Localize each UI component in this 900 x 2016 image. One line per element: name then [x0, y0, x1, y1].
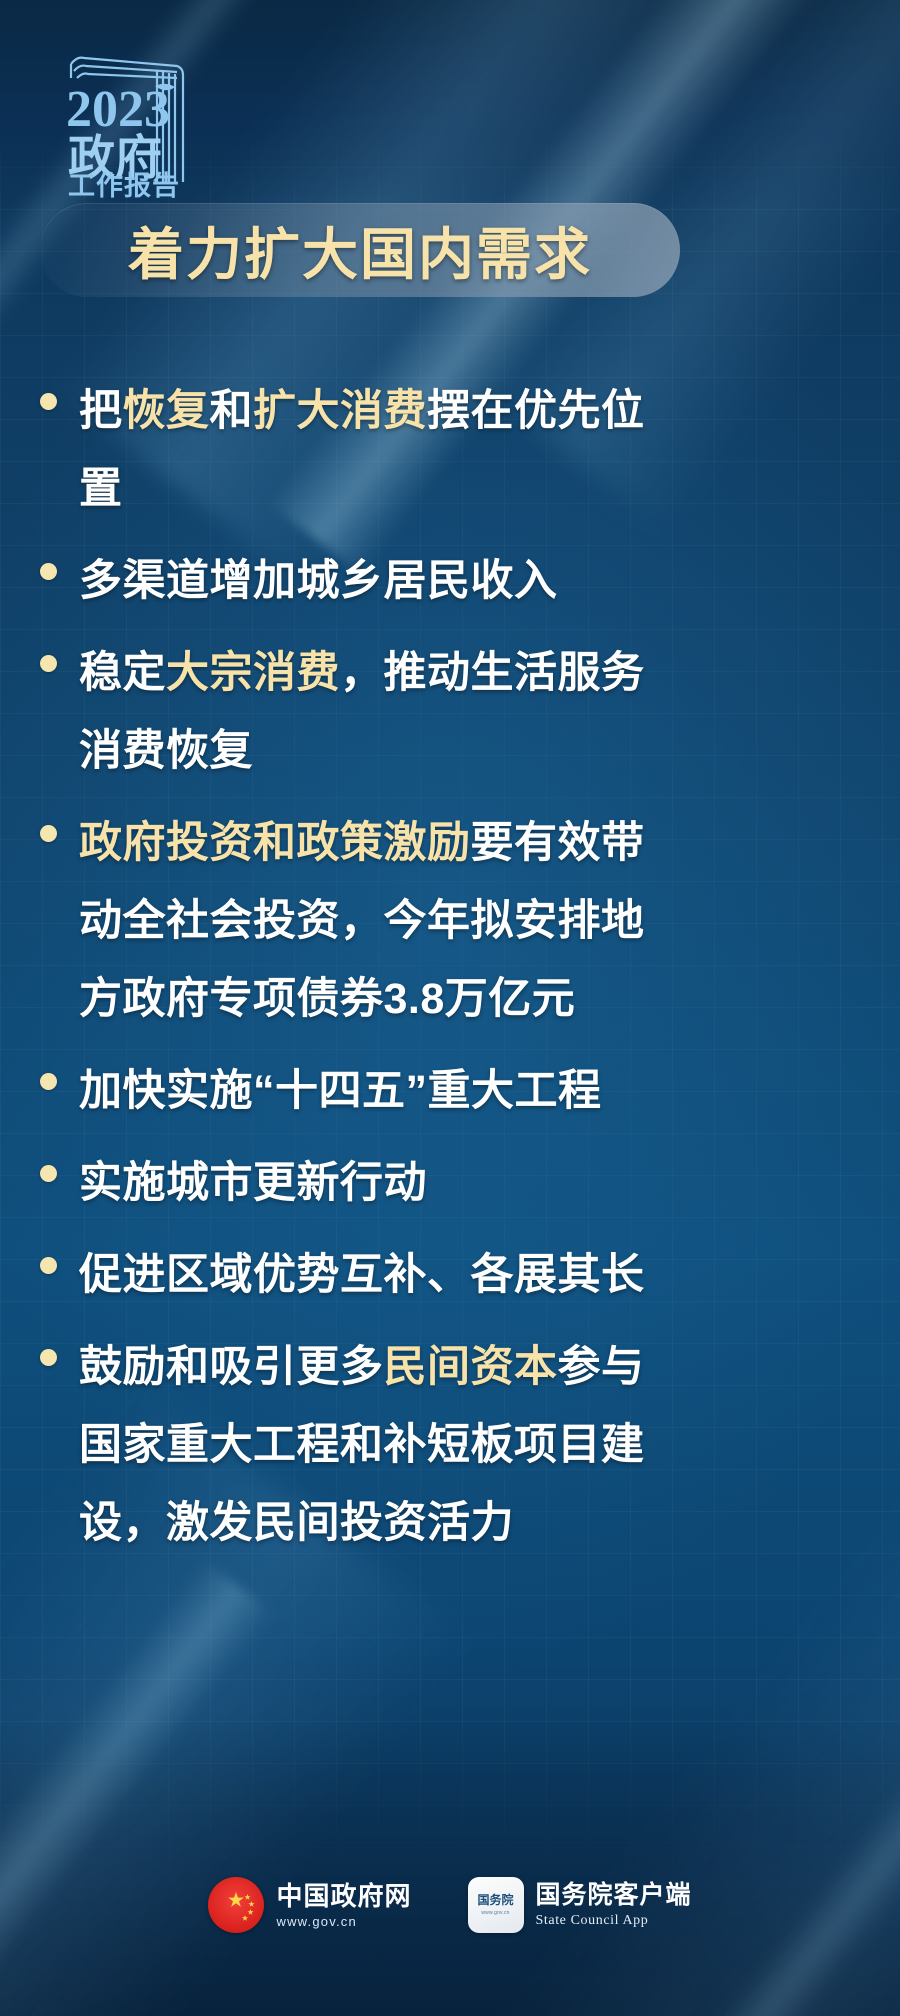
plain-phrase: 促进区域优势互补、各展其长 [79, 1251, 645, 1299]
list-item-text: 多渠道增加城乡居民收入 [79, 542, 558, 620]
list-item: 鼓励和吸引更多民间资本参与国家重大工程和补短板项目建设，激发民间投资活力 [40, 1328, 870, 1562]
bullet-dot-icon [40, 1349, 57, 1366]
state-council-name: 国务院客户端 [536, 1883, 692, 1908]
list-item-text: 政府投资和政策激励要有效带动全社会投资，今年拟安排地方政府专项债券3.8万亿元 [79, 804, 679, 1038]
bullet-dot-icon [40, 393, 57, 410]
national-emblem-icon [208, 1877, 264, 1933]
logo-year: 2023 [66, 81, 170, 138]
footer: 中国政府网 www.gov.cn 国务院 www.gov.cn 国务院客户端 S… [0, 1855, 900, 1955]
plain-phrase: 稳定 [79, 649, 166, 697]
open-book-icon: 2023 政府 [38, 34, 206, 184]
logo-line2: 工作报告 [68, 164, 180, 203]
bullet-dot-icon [40, 563, 57, 580]
state-council-english: State Council App [536, 1914, 692, 1928]
list-item-text: 鼓励和吸引更多民间资本参与国家重大工程和补短板项目建设，激发民间投资活力 [79, 1328, 679, 1562]
state-council-app-icon: 国务院 www.gov.cn [468, 1877, 524, 1933]
list-item-text: 把恢复和扩大消费摆在优先位置 [79, 372, 679, 528]
list-item: 稳定大宗消费，推动生活服务消费恢复 [40, 634, 870, 790]
gov-cn-url: www.gov.cn [276, 1915, 411, 1928]
plain-phrase: 把 [79, 387, 123, 435]
list-item: 多渠道增加城乡居民收入 [40, 542, 870, 620]
bullet-dot-icon [40, 1257, 57, 1274]
highlighted-phrase: 民间资本 [384, 1343, 558, 1391]
list-item: 政府投资和政策激励要有效带动全社会投资，今年拟安排地方政府专项债券3.8万亿元 [40, 804, 870, 1038]
bullet-dot-icon [40, 1165, 57, 1182]
highlighted-phrase: 大宗消费 [166, 649, 340, 697]
list-item-text: 加快实施“十四五”重大工程 [79, 1052, 602, 1130]
plain-phrase: 实施城市更新行动 [79, 1159, 427, 1207]
bullet-dot-icon [40, 825, 57, 842]
gov-cn-logo-group[interactable]: 中国政府网 www.gov.cn [208, 1877, 411, 1933]
plain-phrase: 鼓励和吸引更多 [79, 1343, 384, 1391]
list-item: 促进区域优势互补、各展其长 [40, 1236, 870, 1314]
sc-badge-line2: www.gov.cn [481, 1910, 509, 1916]
highlighted-phrase: 政府投资和政策激励 [79, 819, 471, 867]
state-council-app-group[interactable]: 国务院 www.gov.cn 国务院客户端 State Council App [468, 1877, 692, 1933]
list-item: 把恢复和扩大消费摆在优先位置 [40, 372, 870, 528]
sc-badge-line1: 国务院 [477, 1894, 513, 1907]
plain-phrase: 和 [210, 387, 254, 435]
highlighted-phrase: 扩大消费 [253, 387, 427, 435]
policy-bullet-list: 把恢复和扩大消费摆在优先位置多渠道增加城乡居民收入稳定大宗消费，推动生活服务消费… [40, 372, 870, 1576]
list-item-text: 稳定大宗消费，推动生活服务消费恢复 [79, 634, 679, 790]
plain-phrase: 加快实施“十四五”重大工程 [79, 1067, 602, 1115]
highlighted-phrase: 恢复 [123, 387, 210, 435]
list-item: 实施城市更新行动 [40, 1144, 870, 1222]
bullet-dot-icon [40, 1073, 57, 1090]
list-item-text: 实施城市更新行动 [79, 1144, 427, 1222]
list-item: 加快实施“十四五”重大工程 [40, 1052, 870, 1130]
list-item-text: 促进区域优势互补、各展其长 [79, 1236, 645, 1314]
report-logo: 2023 政府 工作报告 [38, 34, 206, 184]
plain-phrase: 多渠道增加城乡居民收入 [79, 557, 558, 605]
bullet-dot-icon [40, 655, 57, 672]
page-title: 着力扩大国内需求 [40, 203, 680, 297]
gov-cn-name: 中国政府网 [276, 1883, 411, 1909]
